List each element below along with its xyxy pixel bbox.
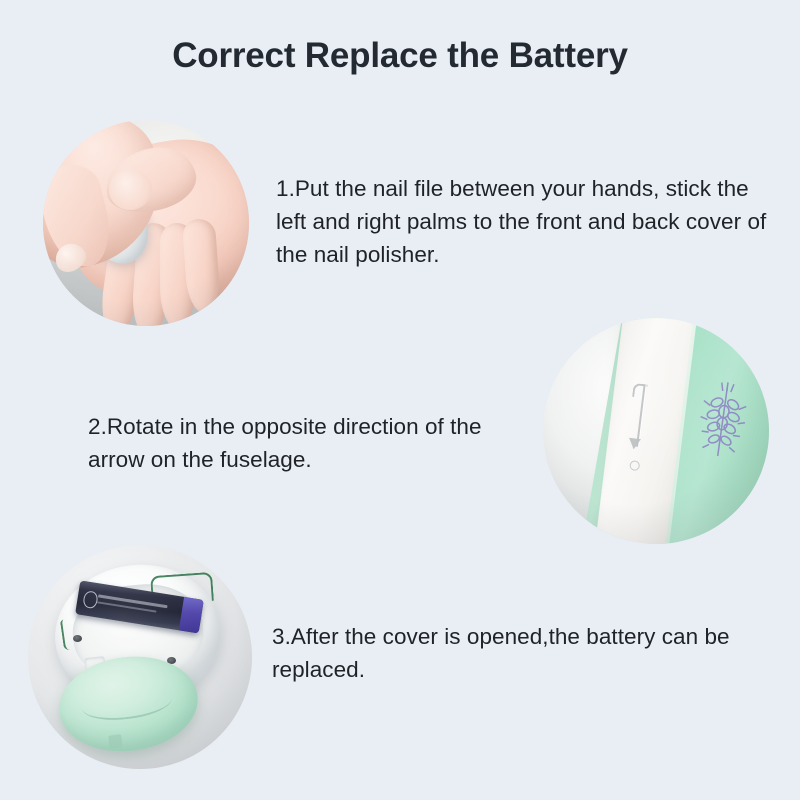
photo-vignette: [43, 120, 249, 326]
page-title: Correct Replace the Battery: [0, 34, 800, 78]
step-2-instruction: 2.Rotate in the opposite direction of th…: [88, 410, 538, 476]
hands-holding-nail-polisher-photo: [43, 120, 249, 326]
step-1-instruction: 1.Put the nail file between your hands, …: [276, 172, 776, 271]
step-3-instruction: 3.After the cover is opened,the battery …: [272, 620, 752, 686]
photo-vignette: [28, 545, 252, 769]
device-arrow-closeup-photo: [543, 318, 769, 544]
instruction-graphic: Correct Replace the Battery 1.Put the na…: [0, 0, 800, 800]
opened-battery-compartment-photo: [28, 545, 252, 769]
photo-vignette: [543, 318, 769, 544]
